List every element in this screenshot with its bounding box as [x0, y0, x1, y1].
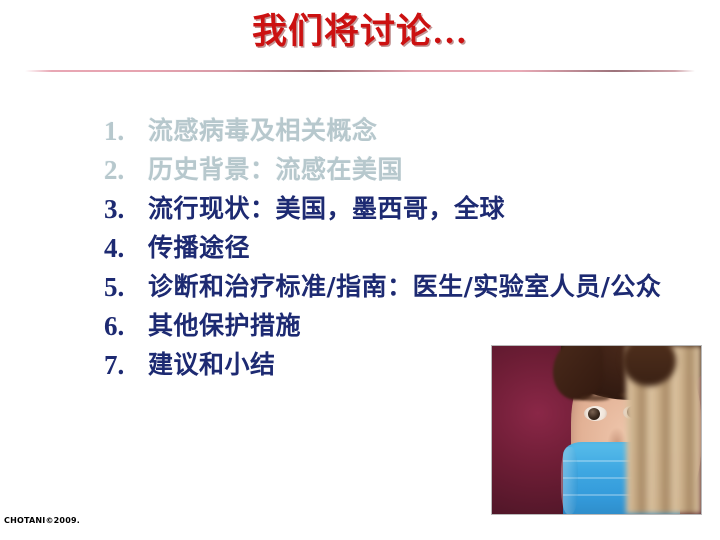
list-item-label: 流行现状：美国，墨西哥，全球: [148, 190, 694, 228]
list-item-number: 1.: [104, 112, 148, 150]
list-item: 6. 其他保护措施: [104, 307, 694, 345]
list-item-number: 4.: [104, 229, 148, 267]
list-item-label: 诊断和治疗标准/指南：医生/实验室人员/公众: [148, 268, 694, 306]
list-item: 1. 流感病毒及相关概念: [104, 112, 694, 150]
list-item-number: 3.: [104, 190, 148, 228]
list-item-number: 6.: [104, 307, 148, 345]
list-item-label: 历史背景：流感在美国: [148, 151, 694, 189]
list-item-number: 5.: [104, 268, 148, 306]
title-divider: [25, 70, 695, 72]
list-item: 4. 传播途径: [104, 229, 694, 267]
list-item-number: 7.: [104, 346, 148, 384]
presentation-slide: 我们将讨论… 1. 流感病毒及相关概念 2. 历史背景：流感在美国 3. 流行现…: [0, 0, 720, 540]
photo-mask-fold: [561, 447, 578, 514]
list-item: 3. 流行现状：美国，墨西哥，全球: [104, 190, 694, 228]
page-title: 我们将讨论…: [0, 11, 720, 53]
list-item-label: 传播途径: [148, 229, 694, 267]
list-item-number: 2.: [104, 151, 148, 189]
list-item: 2. 历史背景：流感在美国: [104, 151, 694, 189]
list-item-label: 流感病毒及相关概念: [148, 112, 694, 150]
photo-child-hair-side: [553, 345, 603, 400]
child-with-mask-photo: [491, 345, 702, 515]
photo-eyebrow-left: [580, 395, 610, 401]
list-item: 5. 诊断和治疗标准/指南：医生/实验室人员/公众: [104, 268, 694, 306]
footer-credit: CHOTANI©2009.: [4, 516, 80, 526]
list-item-label: 其他保护措施: [148, 307, 694, 345]
